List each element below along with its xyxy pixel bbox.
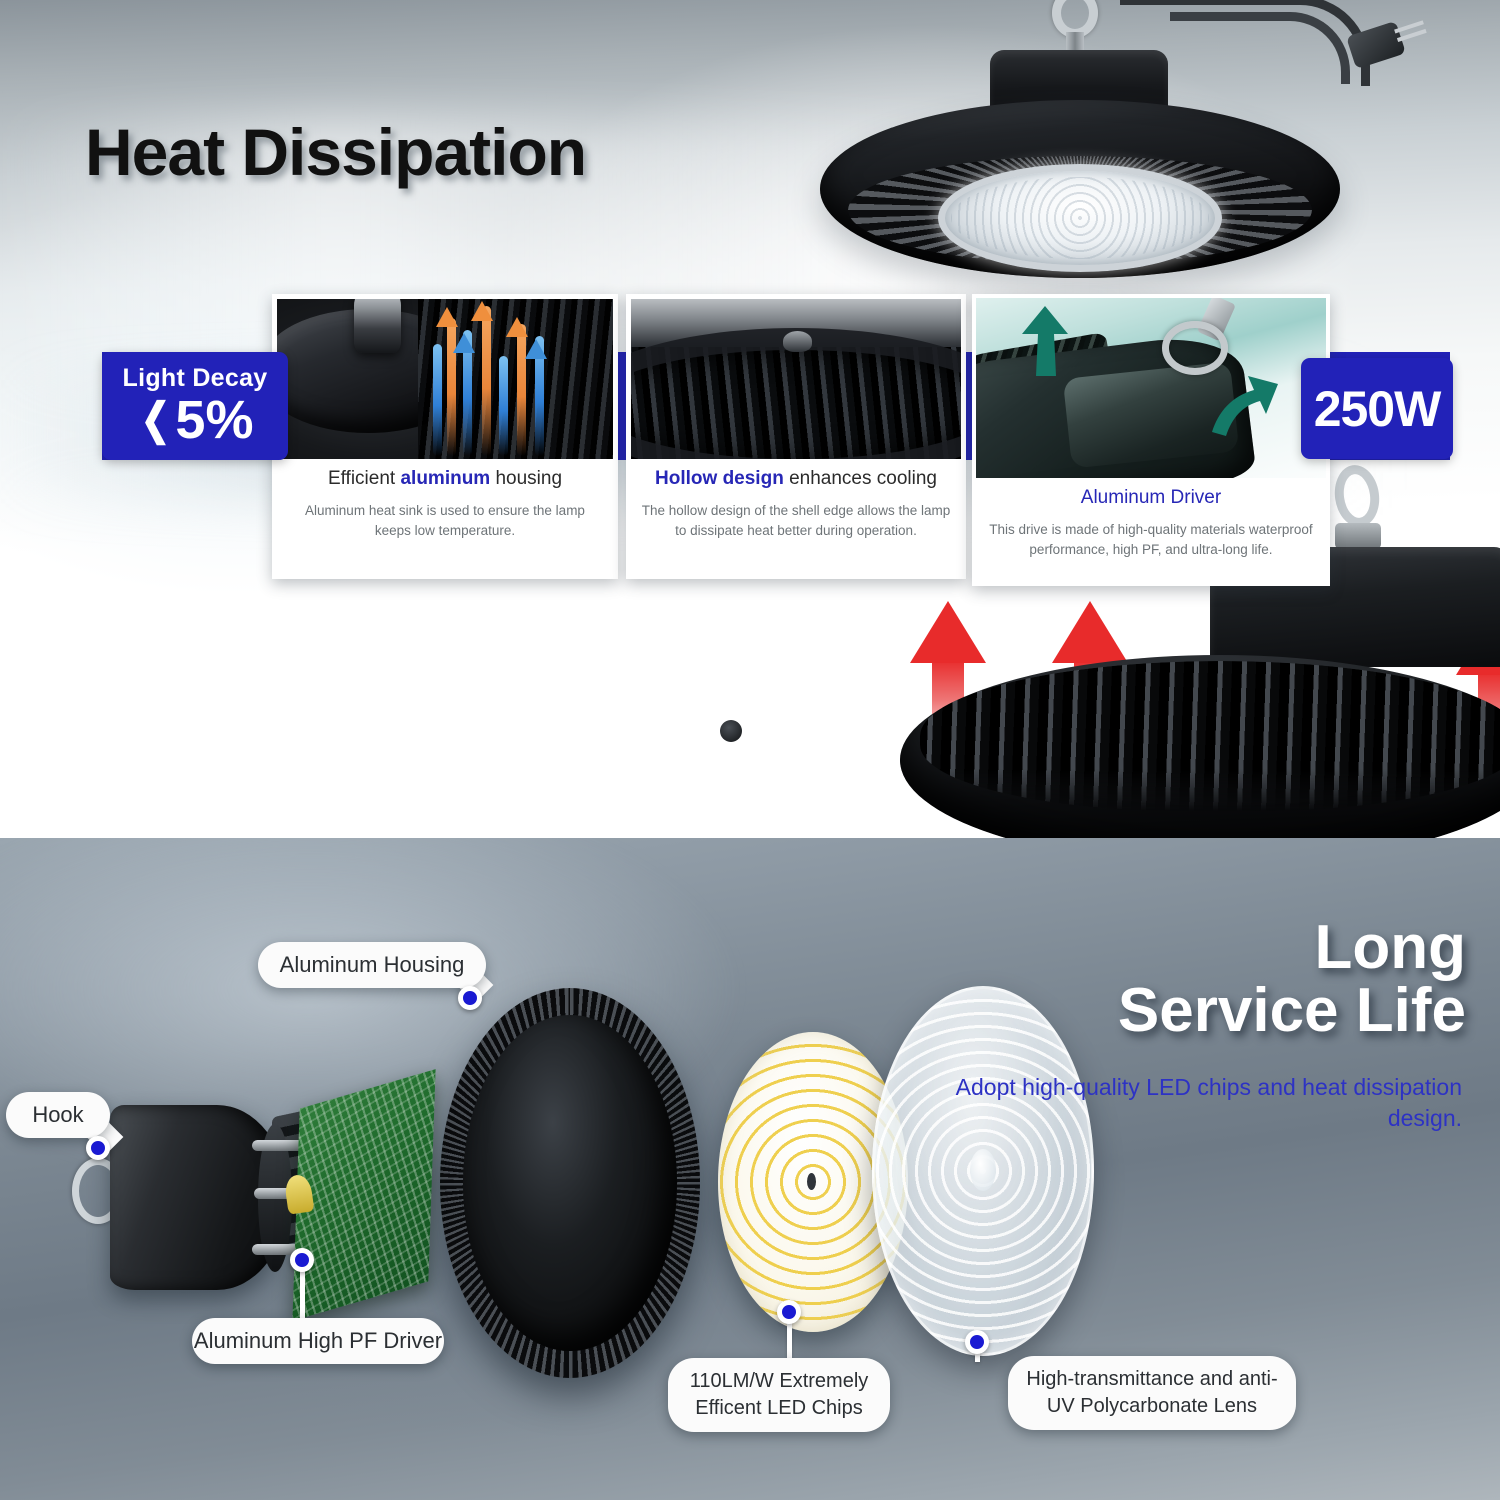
feature-card-description: Aluminum heat sink is used to ensure the… [286,501,604,542]
section-title-heat-dissipation: Heat Dissipation [85,114,586,190]
less-than-caret-icon: ❮ [140,398,170,442]
callout-marker-hook [86,1136,110,1160]
callout-marker-driver [290,1248,314,1272]
heat-dissipation-section: Heat Dissipation Light Decay ❮ 5% 250W [0,0,1500,838]
feature-card-list: Efficient aluminum housing Aluminum heat… [272,294,1332,584]
feature-card-body: Hollow design enhances cooling The hollo… [626,459,966,579]
exploded-aluminum-housing [440,988,700,1378]
housing-center-boss [720,720,742,742]
cool-airflow-arrow-icon [453,333,475,353]
feature-card-title: Aluminum Driver [986,486,1316,510]
hollow-fins-photo [631,299,961,459]
feature-card-aluminum-driver: Aluminum Driver This drive is made of hi… [972,294,1330,586]
callout-marker-lens [965,1330,989,1354]
title-highlight: aluminum [400,468,490,489]
lamp-lens [938,164,1222,272]
driver-photo-bg [976,298,1326,478]
fins-center-knob [783,331,813,352]
feature-card-aluminum-housing: Efficient aluminum housing Aluminum heat… [272,294,618,579]
hot-airflow-arrow-icon [471,301,493,321]
feature-card-description: The hollow design of the shell edge allo… [640,501,952,542]
title-highlight: Aluminum Driver [1081,487,1221,508]
hot-airflow-arrow-icon [436,307,458,327]
title-line-2: Service Life [866,979,1466,1042]
cool-airflow-stream [499,356,508,456]
cool-airflow-stream [433,344,442,456]
arrow-head [1052,601,1128,663]
callout-aluminum-housing: Aluminum Housing [258,942,486,988]
wattage-value: 250W [1314,380,1441,438]
driver-hook-ring [1162,321,1229,375]
title-prefix: Efficient [328,468,401,489]
hot-airflow-stream [482,306,491,456]
heatsink-airflow-photo [277,299,613,459]
driver-airflow-arrow-icon [1018,306,1072,376]
callout-led-chips: 110LM/W Extremely Efficent LED Chips [668,1358,890,1432]
aluminum-driver-photo [976,298,1326,478]
callout-aluminum-high-pf-driver: Aluminum High PF Driver [192,1318,444,1364]
title-suffix: housing [490,468,562,489]
driver-airflow-arrow-icon [1204,376,1278,436]
large-lamp-mount-nut [1335,523,1381,549]
feature-card-title: Efficient aluminum housing [286,467,604,491]
power-cord-loop [1170,12,1350,84]
title-suffix: enhances cooling [784,468,937,489]
large-lamp-hook-ring [1331,462,1383,530]
hanging-highbay-lamp-photo [790,0,1410,288]
arrow-head [910,601,986,663]
cool-airflow-arrow-icon [525,339,547,359]
feature-card-description: This drive is made of high-quality mater… [986,520,1316,561]
wattage-badge: 250W [1301,358,1453,459]
title-highlight: Hollow design [655,468,784,489]
exploded-pcb-driver-board [292,1069,435,1321]
callout-marker-housing [458,986,482,1010]
feature-card-body: Efficient aluminum housing Aluminum heat… [272,459,618,579]
callout-hook: Hook [6,1092,110,1138]
light-decay-value-row: ❮ 5% [137,393,254,447]
light-decay-label: Light Decay [123,366,268,391]
product-infographic: Heat Dissipation Light Decay ❮ 5% 250W [0,0,1500,1500]
callout-marker-chips [777,1300,801,1324]
heatsink-photo-bg [277,299,613,459]
callout-polycarbonate-lens: High-transmittance and anti-UV Polycarbo… [1008,1356,1296,1430]
feature-card-title: Hollow design enhances cooling [640,467,952,491]
hot-airflow-arrow-icon [506,317,528,337]
light-decay-badge: Light Decay ❮ 5% [102,352,288,460]
feature-card-body: Aluminum Driver This drive is made of hi… [972,478,1330,586]
large-lamp-cooling-fins [920,661,1500,811]
light-decay-value: 5% [175,393,253,447]
section-subtitle: Adopt high-quality LED chips and heat di… [902,1072,1462,1134]
heatsink-hub [354,299,401,353]
fins-photo-bg [631,299,961,459]
section-title-long-service-life: Long Service Life [866,916,1466,1042]
title-line-1: Long [866,916,1466,979]
feature-card-hollow-design: Hollow design enhances cooling The hollo… [626,294,966,579]
